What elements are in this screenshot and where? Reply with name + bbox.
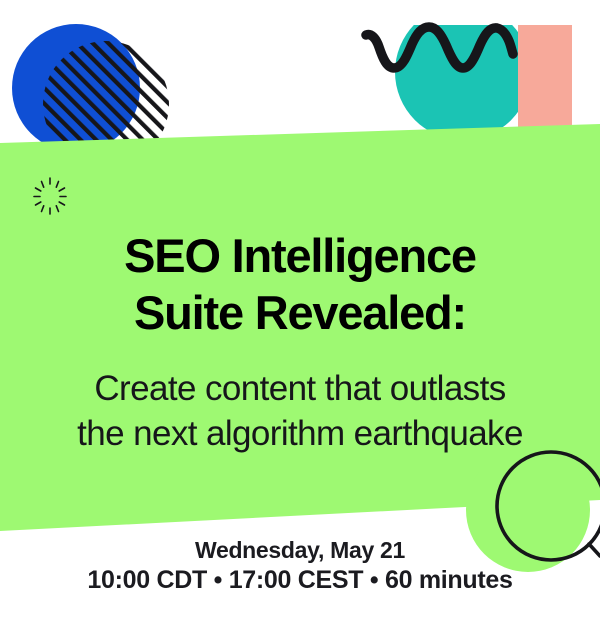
subtitle-line-2: the next algorithm earthquake — [0, 411, 600, 456]
event-time: 10:00 CDT • 17:00 CEST • 60 minutes — [0, 565, 600, 596]
event-date: Wednesday, May 21 — [0, 536, 600, 565]
promo-poster: SEO Intelligence Suite Revealed: Create … — [0, 0, 600, 625]
text-layer: SEO Intelligence Suite Revealed: Create … — [0, 0, 600, 625]
page-title: SEO Intelligence Suite Revealed: — [0, 227, 600, 341]
headline-line-2: Suite Revealed: — [0, 284, 600, 341]
headline-line-1: SEO Intelligence — [0, 227, 600, 284]
event-details: Wednesday, May 21 10:00 CDT • 17:00 CEST… — [0, 536, 600, 596]
subtitle-line-1: Create content that outlasts — [0, 366, 600, 411]
subtitle: Create content that outlasts the next al… — [0, 366, 600, 456]
